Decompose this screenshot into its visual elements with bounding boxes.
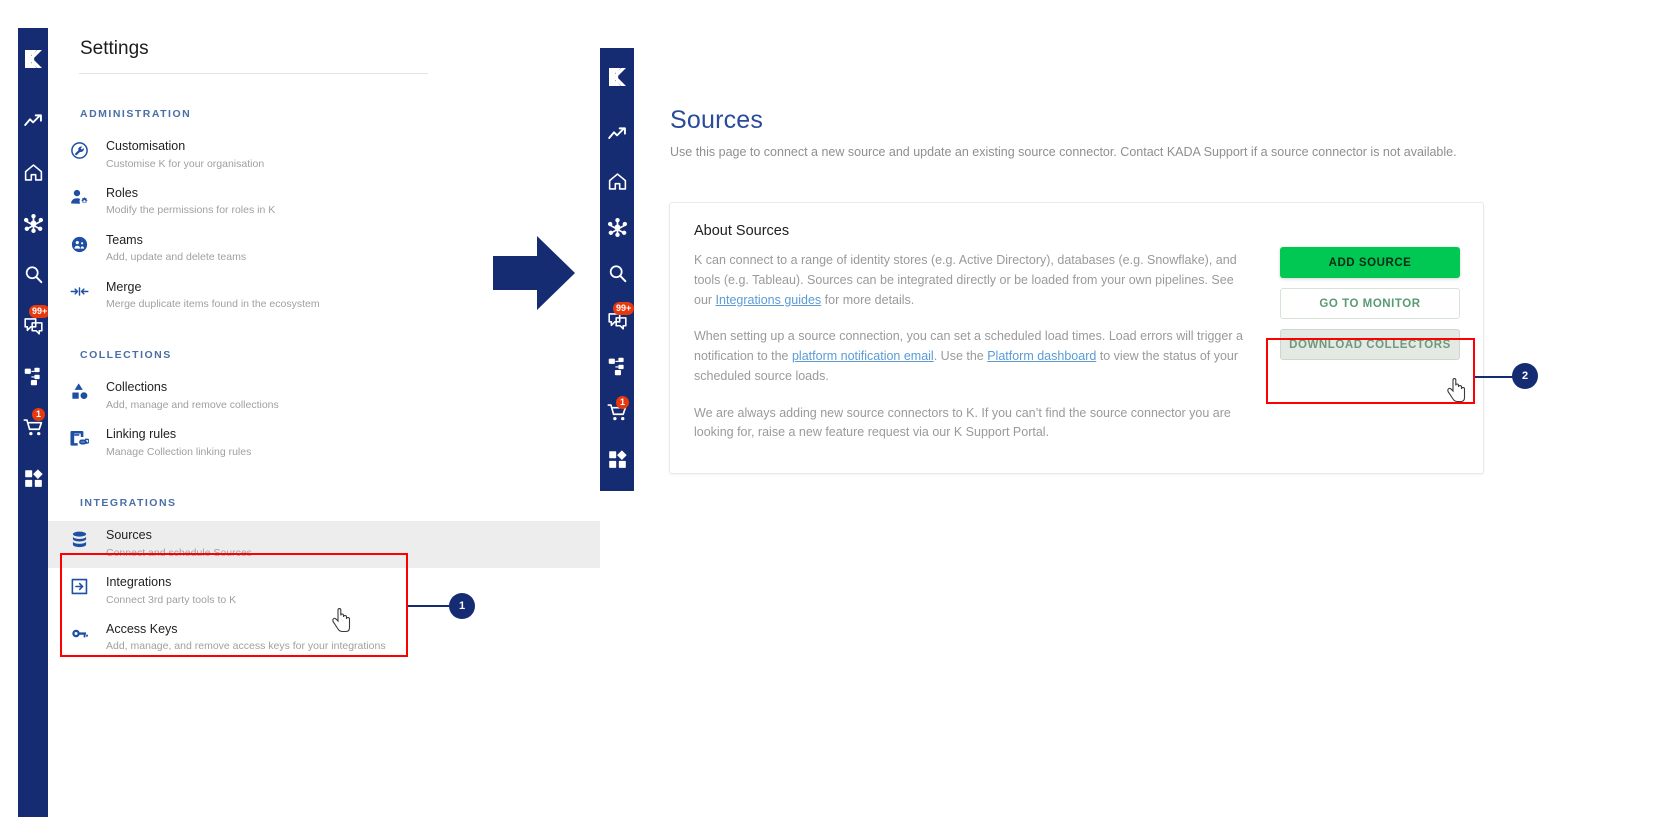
nav-item-3[interactable] bbox=[16, 257, 50, 291]
settings-item-subtitle: Modify the permissions for roles in K bbox=[106, 203, 590, 218]
page-subtitle: Use this page to connect a new source an… bbox=[670, 143, 1460, 162]
section-heading-administration: ADMINISTRATION bbox=[80, 108, 600, 120]
card-link[interactable]: Platform dashboard bbox=[987, 349, 1096, 363]
screenshot-root: 99+1 Settings ADMINISTRATION Customisati… bbox=[0, 0, 1659, 817]
settings-item-title: Sources bbox=[106, 528, 590, 544]
settings-item-roles[interactable]: Roles Modify the permissions for roles i… bbox=[48, 179, 600, 226]
merge-arrows-icon bbox=[70, 280, 92, 301]
page-title-sources: Sources bbox=[670, 106, 763, 135]
page-title-settings: Settings bbox=[80, 38, 149, 60]
go-to-monitor-button[interactable]: GO TO MONITOR bbox=[1280, 288, 1460, 319]
k-logo-icon[interactable] bbox=[18, 44, 48, 74]
annotation-1-line bbox=[408, 605, 450, 607]
add-source-button[interactable]: ADD SOURCE bbox=[1280, 247, 1460, 278]
nav-item-5[interactable] bbox=[600, 352, 634, 381]
settings-item-title: Customisation bbox=[106, 139, 590, 155]
k-logo-icon[interactable] bbox=[602, 64, 632, 90]
nav-item-2[interactable] bbox=[16, 206, 50, 240]
app-nav-rail: 99+1 bbox=[600, 48, 634, 491]
highlight-box-download-collectors bbox=[1266, 338, 1475, 404]
nav-item-7[interactable] bbox=[16, 461, 50, 495]
sources-app-window: 99+1 Sources Use this page to connect a … bbox=[600, 48, 1659, 817]
left-nav-rail: 99+1 bbox=[18, 28, 48, 817]
card-paragraph-0: K can connect to a range of identity sto… bbox=[694, 251, 1254, 310]
nav-item-1[interactable] bbox=[600, 166, 634, 195]
section-heading-collections: COLLECTIONS bbox=[80, 349, 600, 361]
card-text-segment: . Use the bbox=[934, 349, 988, 363]
settings-item-title: Collections bbox=[106, 380, 590, 396]
nav-item-4[interactable]: 99+ bbox=[16, 308, 50, 342]
flow-arrow bbox=[489, 228, 579, 323]
settings-panel: Settings ADMINISTRATION Customisation Cu… bbox=[48, 0, 600, 817]
settings-item-customisation[interactable]: Customisation Customise K for your organ… bbox=[48, 132, 600, 179]
section-heading-integrations: INTEGRATIONS bbox=[80, 497, 600, 509]
nav-item-4[interactable]: 99+ bbox=[600, 305, 634, 334]
settings-item-collections[interactable]: Collections Add, manage and remove colle… bbox=[48, 373, 600, 420]
card-title: About Sources bbox=[694, 223, 789, 239]
nav-badge: 99+ bbox=[613, 302, 634, 315]
settings-item-subtitle: Manage Collection linking rules bbox=[106, 445, 590, 460]
nav-item-6[interactable]: 1 bbox=[600, 398, 634, 427]
highlight-box-integrations bbox=[60, 553, 408, 657]
teams-circle-icon bbox=[70, 233, 92, 254]
settings-item-title: Roles bbox=[106, 186, 590, 202]
title-divider bbox=[79, 73, 428, 74]
card-link[interactable]: platform notification email bbox=[792, 349, 934, 363]
card-text-segment: for more details. bbox=[821, 293, 914, 307]
card-link[interactable]: Integrations guides bbox=[716, 293, 822, 307]
person-gear-icon bbox=[70, 186, 92, 207]
nav-item-1[interactable] bbox=[16, 155, 50, 189]
card-paragraph-2: We are always adding new source connecto… bbox=[694, 404, 1254, 444]
nav-item-5[interactable] bbox=[16, 359, 50, 393]
annotation-1-badge: 1 bbox=[449, 593, 475, 619]
nav-item-2[interactable] bbox=[600, 213, 634, 242]
nav-item-3[interactable] bbox=[600, 259, 634, 288]
wrench-circle-icon bbox=[70, 139, 92, 160]
settings-item-title: Linking rules bbox=[106, 427, 590, 443]
nav-badge: 1 bbox=[32, 408, 45, 421]
card-paragraph-1: When setting up a source connection, you… bbox=[694, 327, 1254, 386]
nav-item-0[interactable] bbox=[600, 120, 634, 149]
settings-item-subtitle: Customise K for your organisation bbox=[106, 157, 590, 172]
linking-rules-icon bbox=[70, 427, 92, 448]
shapes-icon bbox=[70, 380, 92, 401]
nav-item-0[interactable] bbox=[16, 104, 50, 138]
annotation-2-line bbox=[1475, 376, 1513, 378]
settings-item-subtitle: Add, manage and remove collections bbox=[106, 398, 590, 413]
settings-item-linking-rules[interactable]: Linking rules Manage Collection linking … bbox=[48, 420, 600, 467]
card-text-segment: We are always adding new source connecto… bbox=[694, 406, 1231, 440]
card-body-text: K can connect to a range of identity sto… bbox=[694, 251, 1254, 460]
nav-item-7[interactable] bbox=[600, 445, 634, 474]
nav-item-6[interactable]: 1 bbox=[16, 410, 50, 444]
annotation-2-badge: 2 bbox=[1512, 363, 1538, 389]
database-icon bbox=[70, 528, 92, 549]
